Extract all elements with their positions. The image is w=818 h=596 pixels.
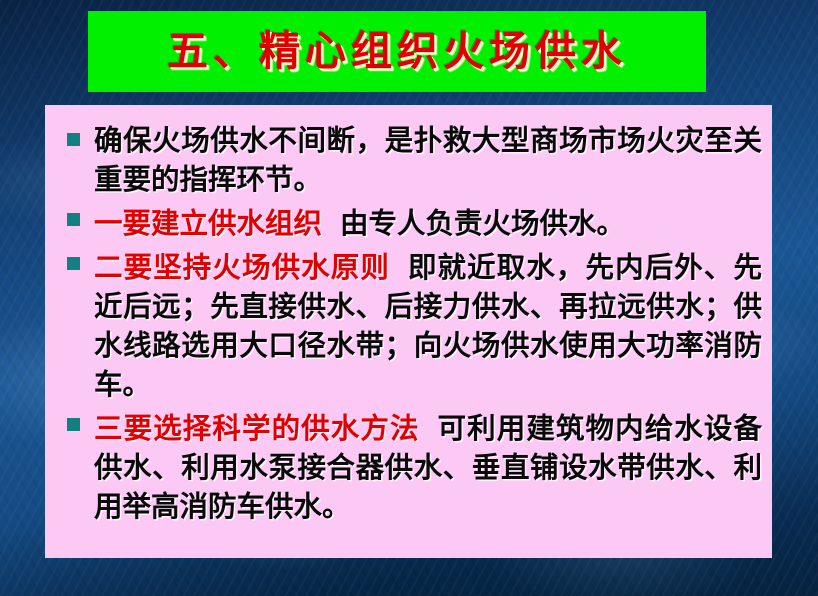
- bullet-item-4-paragraph: 三要选择科学的供水方法可利用建筑物内给水设备供水、利用水泵接合器供水、垂直铺设水…: [94, 409, 762, 526]
- bullet-item-4-lead: 三要选择科学的供水方法: [94, 412, 420, 445]
- presentation-slide: 五、精心组织火场供水 确保火场供水不间断，是扑救大型商场市场火灾至关重要的指挥环…: [0, 0, 818, 596]
- bullet-item-3-paragraph: 二要坚持火场供水原则即就近取水，先内后外、先近后远；先直接供水、后接力供水、再拉…: [94, 248, 762, 404]
- bullet-item-2-paragraph: 一要建立供水组织由专人负责火场供水。: [94, 204, 762, 243]
- bullet-item-2: 一要建立供水组织由专人负责火场供水。: [59, 199, 762, 243]
- bullet-item-2-body: 一要建立供水组织由专人负责火场供水。: [94, 199, 762, 243]
- square-bullet-icon: [67, 418, 80, 431]
- bullet-item-2-lead: 一要建立供水组织: [94, 207, 322, 240]
- slide-title: 五、精心组织火场供水: [167, 31, 627, 72]
- square-bullet-icon: [67, 257, 80, 270]
- bullet-item-3-lead: 二要坚持火场供水原则: [94, 251, 390, 284]
- content-panel: 确保火场供水不间断，是扑救大型商场市场火灾至关重要的指挥环节。 一要建立供水组织…: [45, 105, 772, 558]
- square-bullet-icon: [67, 133, 80, 146]
- bullet-item-3-body: 二要坚持火场供水原则即就近取水，先内后外、先近后远；先直接供水、后接力供水、再拉…: [94, 243, 762, 404]
- bullet-item-1-body: 确保火场供水不间断，是扑救大型商场市场火灾至关重要的指挥环节。: [94, 119, 762, 199]
- bullet-item-2-text: 由专人负责火场供水。: [340, 207, 625, 240]
- bullet-item-4: 三要选择科学的供水方法可利用建筑物内给水设备供水、利用水泵接合器供水、垂直铺设水…: [59, 404, 762, 526]
- bullet-item-4-body: 三要选择科学的供水方法可利用建筑物内给水设备供水、利用水泵接合器供水、垂直铺设水…: [94, 404, 762, 526]
- title-banner: 五、精心组织火场供水: [88, 11, 706, 92]
- square-bullet-icon: [67, 213, 80, 226]
- bullet-item-1: 确保火场供水不间断，是扑救大型商场市场火灾至关重要的指挥环节。: [59, 119, 762, 199]
- bullet-item-3: 二要坚持火场供水原则即就近取水，先内后外、先近后远；先直接供水、后接力供水、再拉…: [59, 243, 762, 404]
- bullet-item-1-text: 确保火场供水不间断，是扑救大型商场市场火灾至关重要的指挥环节。: [94, 121, 762, 199]
